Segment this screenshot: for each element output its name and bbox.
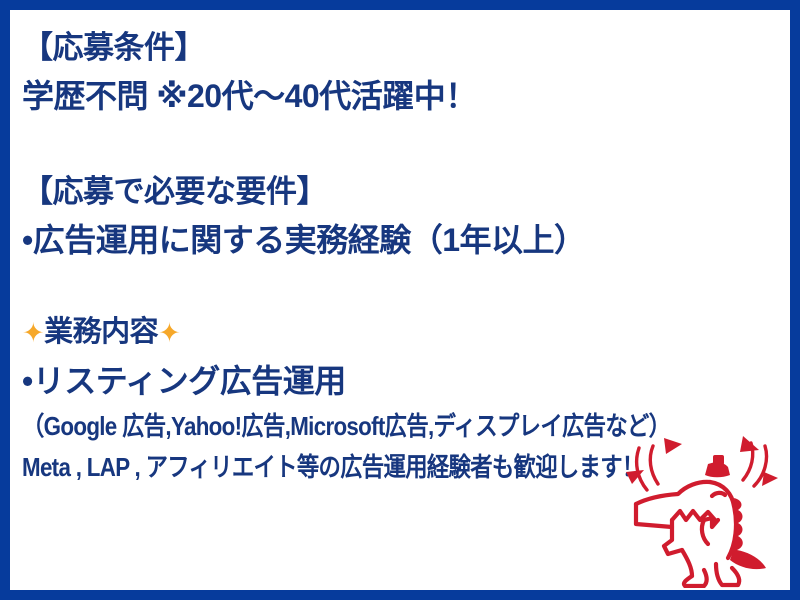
other-platforms-text: Meta , LAP , アフィリエイト等の広告運用経験者も歓迎します！ [22,447,644,488]
section-heading-required-requirements: 【応募で必要な要件】 [22,168,790,216]
section-heading-job-duties: ✦業務内容✦ [22,309,790,357]
poster-frame: 【応募条件】 学歴不問 ※20代〜40代活躍中！ 【応募で必要な要件】 •広告運… [0,0,800,600]
section-spacer-2 [22,265,790,309]
section-line-experience: •広告運用に関する実務経験（1年以上） [22,216,790,265]
sparkle-icon-right: ✦ [158,318,180,348]
section-heading-application-conditions: 【応募条件】 [22,24,790,72]
section-heading-job-duties-label: 業務内容 [44,316,158,348]
section-line-education: 学歴不問 ※20代〜40代活躍中！ [22,72,790,121]
sparkle-icon-left: ✦ [22,318,44,348]
section-line-listing-ads: •リスティング広告運用 [22,357,790,406]
section-spacer-1 [22,121,790,168]
ad-platforms-text: （Google 広告,Yahoo!広告,Microsoft広告,ディスプレイ広告… [22,406,670,447]
shouting-dinosaur-icon [612,428,782,588]
